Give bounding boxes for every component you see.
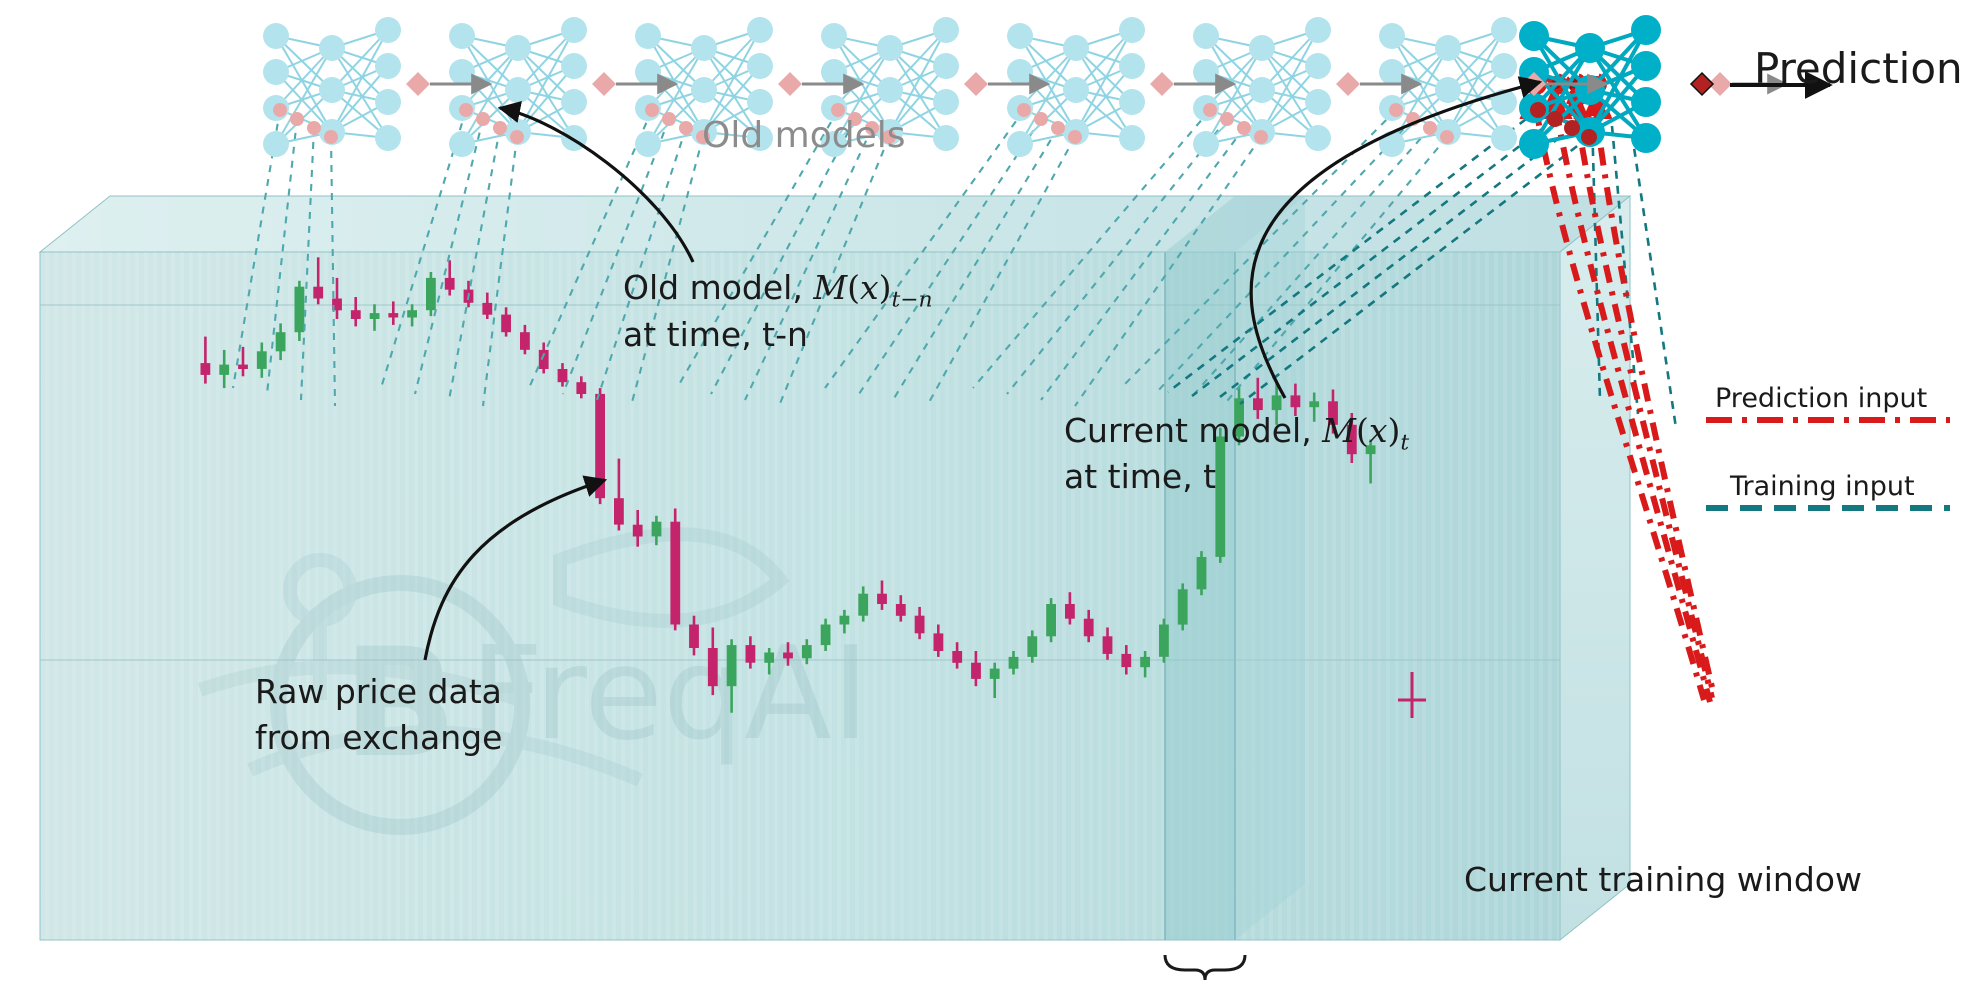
old-model-math-paren-close: ) <box>879 268 892 307</box>
legend-label-prediction-input: Prediction input <box>1715 383 1927 415</box>
current-model-math-paren-close: ) <box>1387 411 1400 450</box>
current-model-annotation-line1: Current model, M(x)t <box>1064 412 1409 456</box>
current-model-annotation-prefix: Current model, <box>1064 411 1322 450</box>
old-model-annotation-line2: at time, t-n <box>623 316 808 355</box>
current-model-math-M: M <box>1322 411 1356 450</box>
legend-label-training-input: Training input <box>1730 471 1915 503</box>
old-model-annotation-line1: Old model, M(x)t−n <box>623 269 933 313</box>
raw-price-annotation-line2: from exchange <box>255 719 502 758</box>
raw-price-annotation-line1: Raw price data <box>255 673 502 712</box>
old-model-math-x: x <box>860 268 879 307</box>
old-model-math-paren-open: ( <box>847 268 860 307</box>
old-model-math-M: M <box>813 268 847 307</box>
training-window-label: Current training window <box>1464 861 1862 900</box>
old-model-math-subscript: t−n <box>892 288 933 313</box>
legend <box>0 0 1966 981</box>
old-models-label: Old models <box>702 115 905 157</box>
current-model-math-subscript: t <box>1400 431 1409 456</box>
figure-root: B FreqAI <box>0 0 1966 981</box>
current-model-annotation-line2: at time, t <box>1064 458 1216 497</box>
prediction-label: Prediction <box>1754 44 1963 94</box>
current-model-math-x: x <box>1369 411 1388 450</box>
current-model-math-paren-open: ( <box>1356 411 1369 450</box>
old-model-annotation-prefix: Old model, <box>623 268 813 307</box>
